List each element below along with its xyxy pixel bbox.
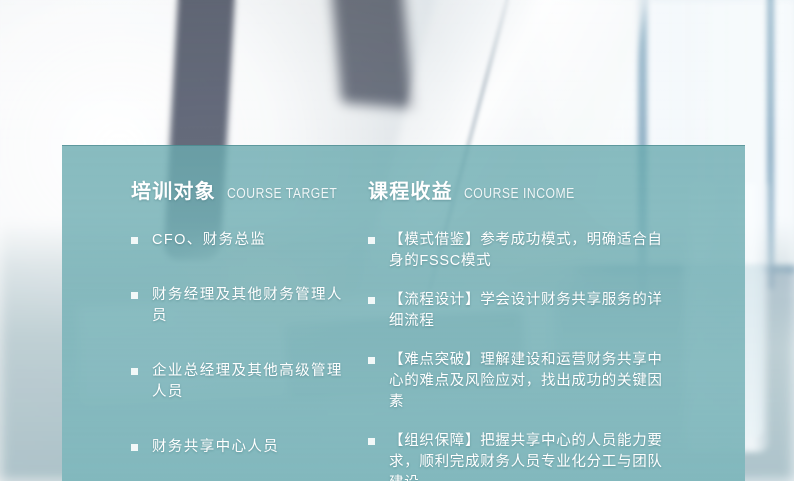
course-target-heading-en: COURSE TARGET: [227, 186, 337, 202]
list-item: 财务经理及其他财务管理人员: [131, 285, 352, 327]
list-item: 企业总经理及其他高级管理人员: [131, 361, 352, 403]
square-bullet-icon: [368, 297, 375, 304]
list-item-text: 【模式借鉴】参考成功模式，明确适合自身的FSSC模式: [389, 230, 671, 272]
course-income-heading-cn: 课程收益: [368, 175, 453, 204]
square-bullet-icon: [131, 292, 138, 299]
course-target-heading: 培训对象 COURSE TARGET: [131, 175, 352, 204]
square-bullet-icon: [131, 368, 138, 375]
column-course-income: 课程收益 COURSE INCOME 【模式借鉴】参考成功模式，明确适合自身的F…: [352, 175, 745, 481]
list-item: 财务共享中心人员: [131, 437, 352, 458]
list-item-text: CFO、财务总监: [152, 230, 266, 251]
list-item: CFO、财务总监: [131, 230, 352, 251]
course-income-heading-en: COURSE INCOME: [464, 186, 575, 202]
list-item: 【组织保障】把握共享中心的人员能力要求，顺利完成财务人员专业化分工与团队建设: [368, 431, 745, 481]
square-bullet-icon: [368, 237, 375, 244]
list-item-text: 【难点突破】理解建设和运营财务共享中心的难点及风险应对，找出成功的关键因素: [389, 350, 671, 413]
square-bullet-icon: [131, 237, 138, 244]
column-course-target: 培训对象 COURSE TARGET CFO、财务总监 财务经理及其他财务管理人…: [62, 175, 352, 481]
course-target-list: CFO、财务总监 财务经理及其他财务管理人员 企业总经理及其他高级管理人员 财务…: [131, 230, 352, 458]
square-bullet-icon: [368, 357, 375, 364]
list-item: 【模式借鉴】参考成功模式，明确适合自身的FSSC模式: [368, 230, 745, 272]
square-bullet-icon: [131, 444, 138, 451]
slide-canvas: 培训对象 COURSE TARGET CFO、财务总监 财务经理及其他财务管理人…: [0, 0, 794, 481]
list-item-text: 企业总经理及其他高级管理人员: [152, 361, 352, 403]
course-income-heading: 课程收益 COURSE INCOME: [368, 175, 745, 204]
square-bullet-icon: [368, 438, 375, 445]
list-item-text: 【组织保障】把握共享中心的人员能力要求，顺利完成财务人员专业化分工与团队建设: [389, 431, 671, 481]
list-item-text: 财务经理及其他财务管理人员: [152, 285, 352, 327]
course-target-heading-cn: 培训对象: [131, 175, 216, 204]
course-income-list: 【模式借鉴】参考成功模式，明确适合自身的FSSC模式 【流程设计】学会设计财务共…: [368, 230, 745, 481]
teal-content-panel: 培训对象 COURSE TARGET CFO、财务总监 财务经理及其他财务管理人…: [62, 145, 745, 481]
list-item: 【难点突破】理解建设和运营财务共享中心的难点及风险应对，找出成功的关键因素: [368, 350, 745, 413]
list-item-text: 财务共享中心人员: [152, 437, 279, 458]
list-item: 【流程设计】学会设计财务共享服务的详细流程: [368, 290, 745, 332]
list-item-text: 【流程设计】学会设计财务共享服务的详细流程: [389, 290, 671, 332]
